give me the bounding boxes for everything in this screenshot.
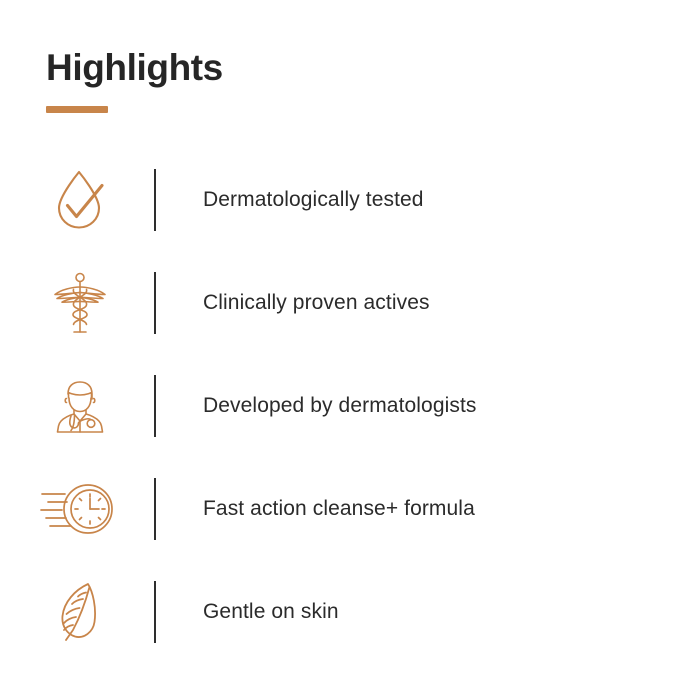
- icon-cell: [0, 166, 140, 234]
- list-item-label: Gentle on skin: [156, 600, 339, 624]
- header: Highlights: [46, 48, 223, 113]
- fast-clock-icon: [38, 478, 122, 540]
- droplet-check-icon: [49, 166, 111, 234]
- list-item-label: Dermatologically tested: [156, 188, 424, 212]
- list-item: Dermatologically tested: [0, 148, 700, 251]
- list-item: Clinically proven actives: [0, 251, 700, 354]
- icon-cell: [0, 269, 140, 337]
- icon-cell: [0, 578, 140, 646]
- feather-icon: [53, 578, 107, 646]
- icon-cell: [0, 478, 140, 540]
- highlights-panel: Highlights Dermatologically tested: [0, 0, 700, 700]
- list-item: Developed by dermatologists: [0, 354, 700, 457]
- list-item-label: Developed by dermatologists: [156, 394, 477, 418]
- list-item-label: Fast action cleanse+ formula: [156, 497, 475, 521]
- caduceus-icon: [49, 269, 111, 337]
- list-item: Fast action cleanse+ formula: [0, 457, 700, 560]
- page-title: Highlights: [46, 48, 223, 89]
- doctor-icon: [48, 374, 112, 438]
- icon-cell: [0, 374, 140, 438]
- list-item-label: Clinically proven actives: [156, 291, 430, 315]
- list-item: Gentle on skin: [0, 560, 700, 663]
- title-accent-bar: [46, 106, 108, 113]
- highlights-list: Dermatologically tested: [0, 148, 700, 663]
